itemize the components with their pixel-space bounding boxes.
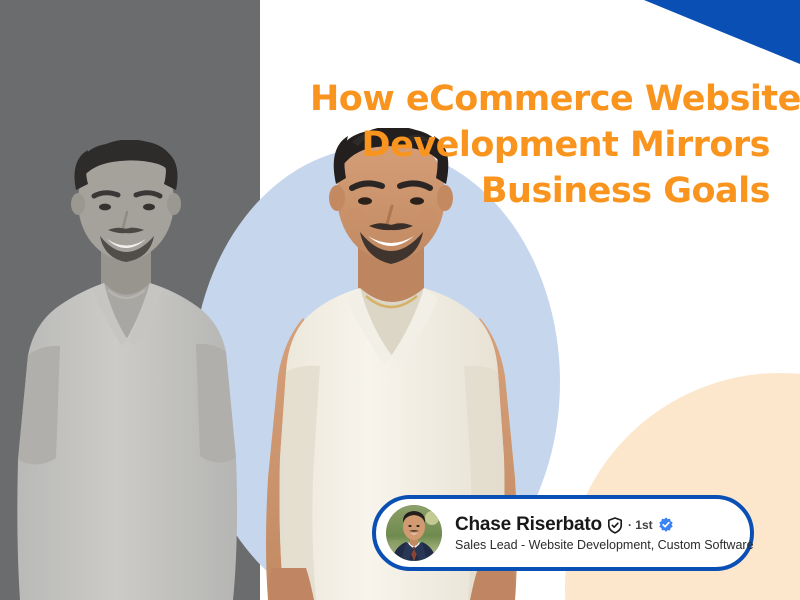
profile-card[interactable]: Chase Riserbato · 1st Sales Lead - Websi…	[372, 495, 754, 571]
title-line-3: Business Goals	[310, 168, 770, 214]
profile-name: Chase Riserbato	[455, 514, 602, 536]
avatar	[386, 505, 442, 561]
page-title: How eCommerce Website Development Mirror…	[310, 76, 770, 214]
grayscale-person-figure	[8, 140, 258, 600]
profile-name-row: Chase Riserbato · 1st	[455, 514, 736, 536]
profile-text: Chase Riserbato · 1st Sales Lead - Websi…	[455, 514, 736, 552]
title-line-1: How eCommerce Website	[310, 76, 770, 122]
connection-degree: · 1st	[628, 518, 653, 532]
blue-corner-triangle	[644, 0, 800, 64]
linkedin-verified-badge-icon	[658, 517, 674, 533]
social-media-graphic: How eCommerce Website Development Mirror…	[0, 0, 800, 600]
title-line-2: Development Mirrors	[310, 122, 770, 168]
profile-headline: Sales Lead - Website Development, Custom…	[455, 538, 736, 552]
verified-shield-icon	[607, 517, 623, 534]
